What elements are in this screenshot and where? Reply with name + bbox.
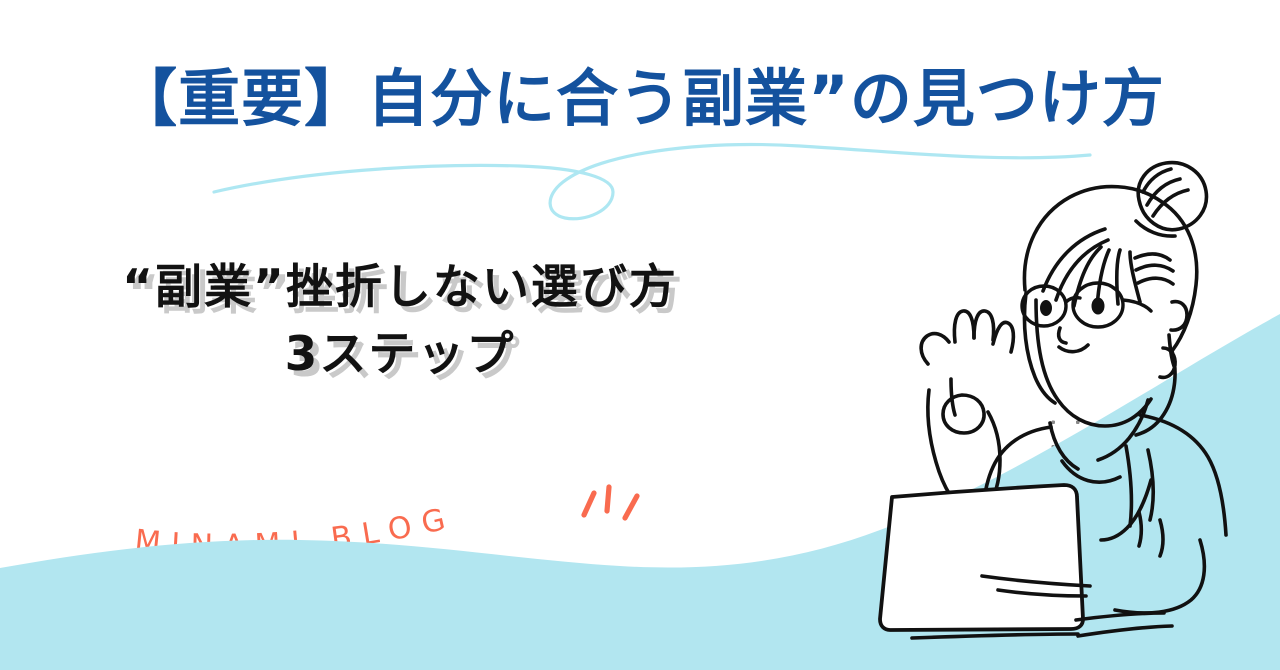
title-swoosh-layer <box>0 0 1280 670</box>
blog-header-banner: 【重要】自分に合う副業”の見つけ方 “副業”挫折しない選び方 3ステップ MIN… <box>0 0 1280 670</box>
title-swoosh <box>214 145 1090 219</box>
